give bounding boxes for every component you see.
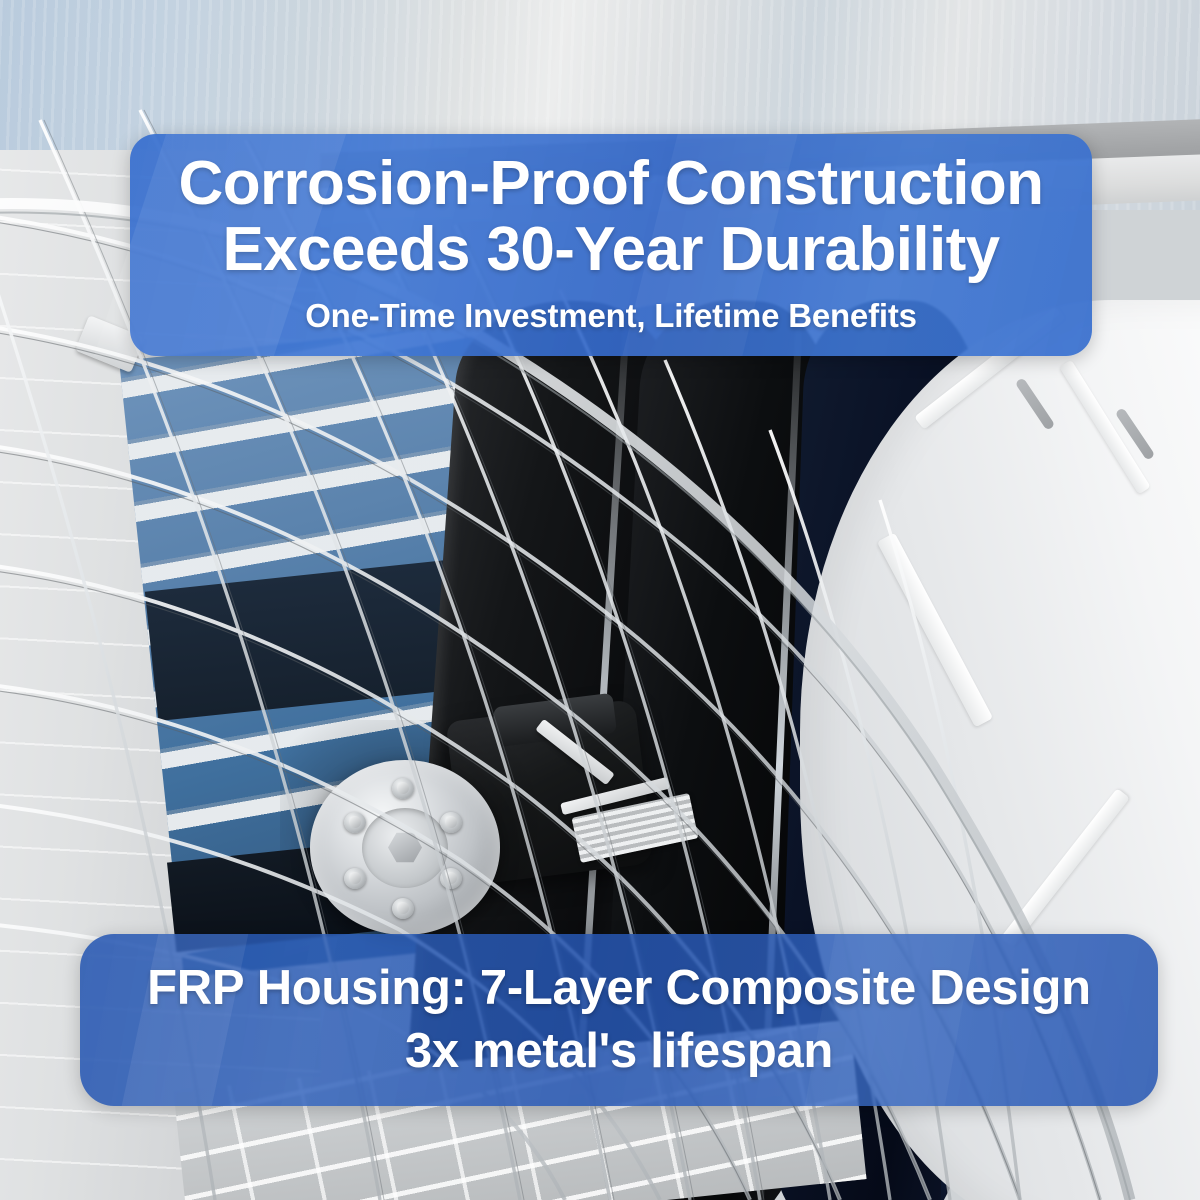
headline-banner-bottom: FRP Housing: 7-Layer Composite Design 3x… — [80, 934, 1158, 1106]
hub-bolt — [440, 812, 462, 833]
hub-bolt — [392, 778, 414, 799]
banner-light-streak — [122, 934, 249, 1106]
hub-bolt — [440, 868, 462, 889]
banner-light-streak — [805, 934, 975, 1106]
fan-hub-plate — [310, 760, 500, 935]
feature-headline: FRP Housing: 7-Layer Composite Design — [147, 961, 1091, 1016]
feature-subtitle: 3x metal's lifespan — [405, 1024, 833, 1079]
hub-bolt — [392, 898, 414, 919]
headline-subtitle: One-Time Investment, Lifetime Benefits — [305, 298, 917, 334]
hub-bolt — [344, 868, 366, 889]
headline-line-2: Exceeds 30-Year Durability — [222, 218, 999, 282]
headline-banner-top: Corrosion-Proof Construction Exceeds 30-… — [130, 134, 1092, 356]
headline-line-1: Corrosion-Proof Construction — [179, 152, 1044, 216]
hub-bolt — [344, 812, 366, 833]
product-marketing-image: Corrosion-Proof Construction Exceeds 30-… — [0, 0, 1200, 1200]
